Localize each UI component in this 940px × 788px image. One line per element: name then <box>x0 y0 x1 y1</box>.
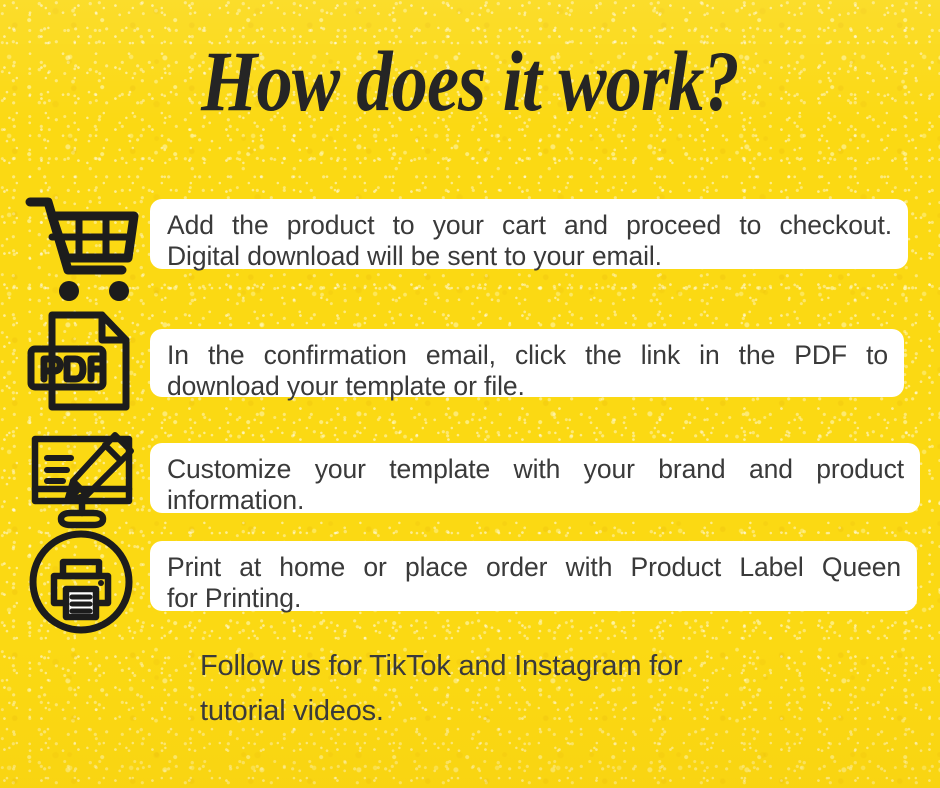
step-3-bubble: Customize your template with your brand … <box>150 443 920 513</box>
footer-line-1: Follow us for TikTok and Instagram for <box>200 644 800 689</box>
poster-canvas: How does it work? Add the product to you… <box>0 0 940 788</box>
step-4-line-2: for Printing. <box>167 583 901 614</box>
step-2-bubble: In the confirmation email, click the lin… <box>150 329 904 397</box>
step-2-line-1: In the confirmation email, click the lin… <box>167 340 888 371</box>
pdf-file-icon <box>26 309 138 413</box>
printer-circle-icon <box>26 529 138 635</box>
footer-text: Follow us for TikTok and Instagram for t… <box>200 644 800 734</box>
step-2-icon <box>20 308 144 414</box>
step-3-line-2: information. <box>167 485 904 516</box>
page-title: How does it work? <box>75 38 865 124</box>
shopping-cart-icon <box>22 192 142 304</box>
step-4-line-1: Print at home or place order with Produc… <box>167 552 901 583</box>
step-4-icon <box>20 528 144 636</box>
step-1-line-2: Digital download will be sent to your em… <box>167 241 892 272</box>
step-3-icon <box>20 426 144 534</box>
step-4-bubble: Print at home or place order with Produc… <box>150 541 917 611</box>
step-3-line-1: Customize your template with your brand … <box>167 454 904 485</box>
step-2-line-2: download your template or file. <box>167 371 888 402</box>
monitor-pencil-icon <box>23 427 141 533</box>
step-1-icon <box>20 192 144 304</box>
footer-line-2: tutorial videos. <box>200 689 800 734</box>
step-1-bubble: Add the product to your cart and proceed… <box>150 199 908 269</box>
step-1-line-1: Add the product to your cart and proceed… <box>167 210 892 241</box>
